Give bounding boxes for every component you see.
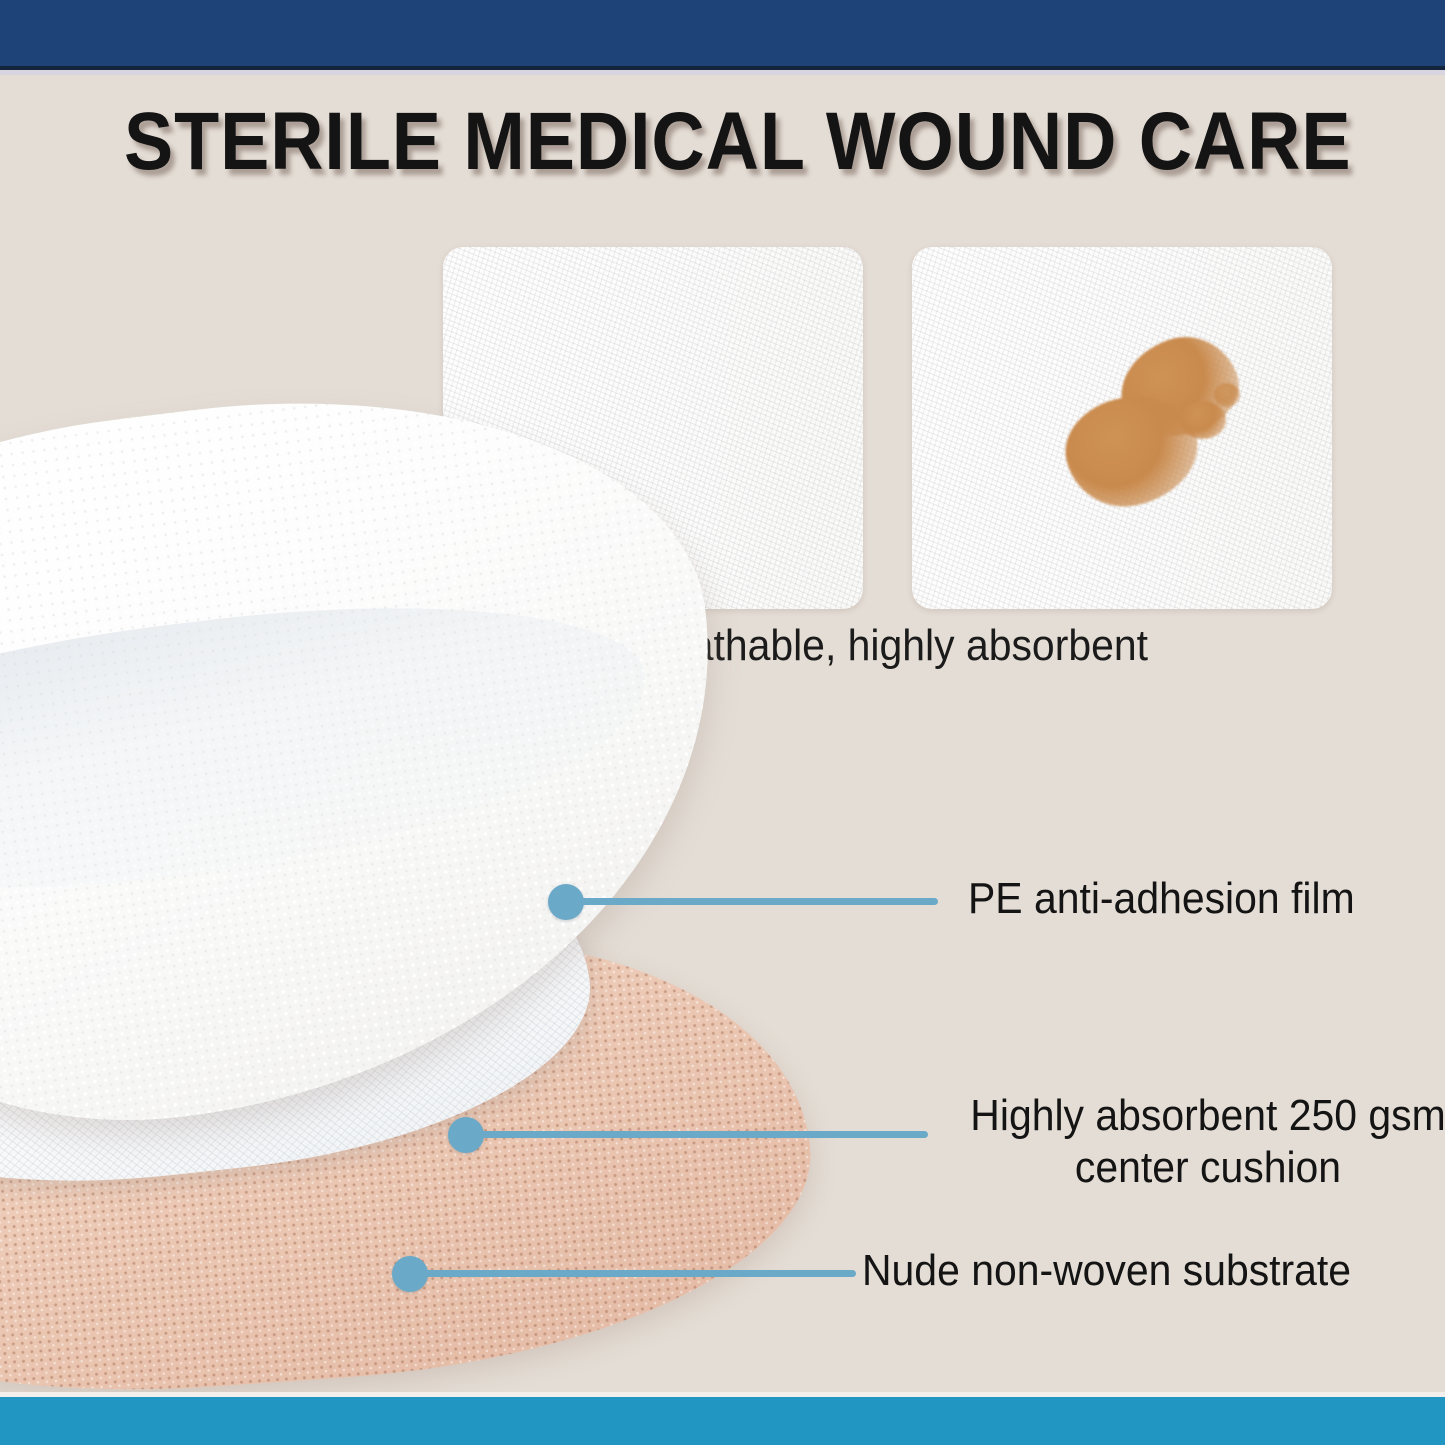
top-banner-bar <box>0 0 1445 66</box>
callout-label-line2: center cushion <box>1075 1143 1341 1192</box>
callout-label-line1: Highly absorbent 250 gsm <box>970 1091 1445 1140</box>
product-infographic: STERILE MEDICAL WOUND CARE Breathable, h… <box>0 0 1445 1445</box>
bottom-banner-bar <box>0 1397 1445 1445</box>
callout-line-center-cushion <box>480 1131 928 1138</box>
callout-dot-nude-substrate <box>392 1256 428 1292</box>
thumb-white-pad <box>912 247 1332 609</box>
callout-label-center-cushion: Highly absorbent 250 gsm center cushion <box>920 1090 1445 1194</box>
callout-dot-pe-film <box>548 884 584 920</box>
callout-label-nude-substrate: Nude non-woven substrate <box>862 1245 1351 1297</box>
layered-product-photo <box>0 390 880 1400</box>
absorbed-exudate-photo <box>912 247 1332 609</box>
callout-label-pe-film: PE anti-adhesion film <box>968 873 1355 925</box>
page-title: STERILE MEDICAL WOUND CARE <box>124 98 1222 186</box>
callout-line-pe-film <box>580 898 938 905</box>
callout-dot-center-cushion <box>448 1117 484 1153</box>
callout-line-nude-substrate <box>424 1270 856 1277</box>
